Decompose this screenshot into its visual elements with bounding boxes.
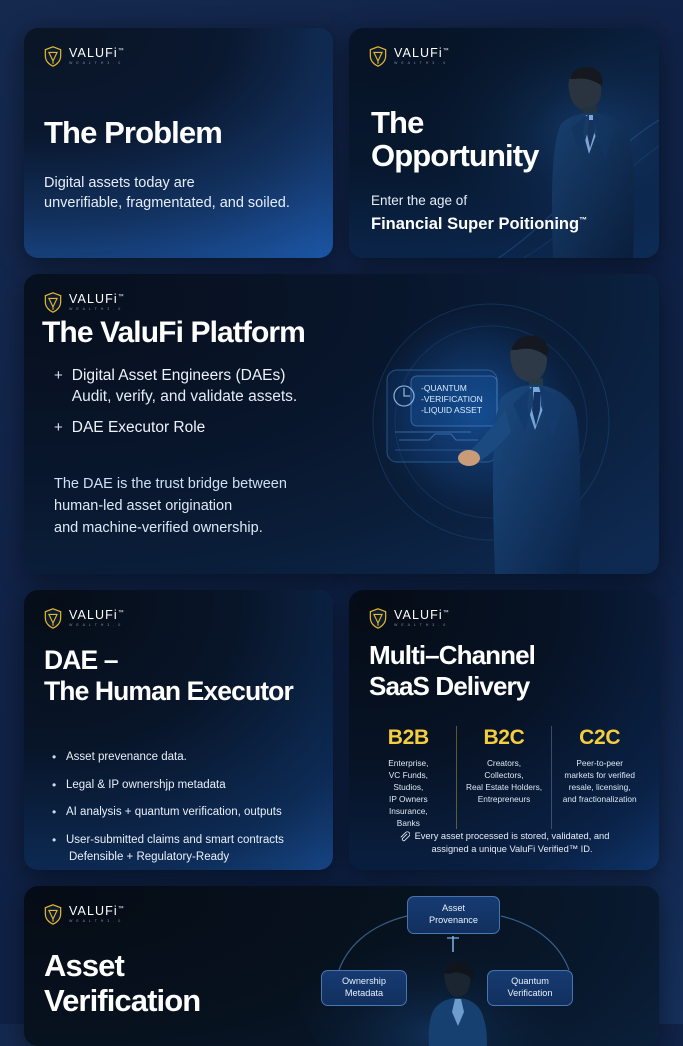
brand-logotype: VALUFi™ W E A L T H 3 . 0 <box>69 293 124 311</box>
verification-title: Asset Verification <box>44 948 200 1018</box>
brand-logotype: VALUFi™ W E A L T H 3 . 0 <box>394 47 449 65</box>
saas-column-b2c: B2C Creators, Collectors, Real Estate Ho… <box>456 726 552 829</box>
platform-quote-line2: human-led asset origination <box>54 498 232 514</box>
dae-bullet-subtext: Defensible + Regulatory-Ready <box>66 850 324 866</box>
brand-logo: VALUFi™ W E A L T H 3 . 0 <box>44 292 124 313</box>
saas-channel-columns: B2B Enterprise, VC Funds, Studios, IP Ow… <box>361 726 647 829</box>
dae-title-line1: DAE – <box>44 645 118 675</box>
brand-name: VALUFi <box>394 608 443 622</box>
platform-title: The ValuFi Platform <box>42 317 305 349</box>
shield-v-icon <box>44 608 62 629</box>
dae-title: DAE – The Human Executor <box>44 645 293 708</box>
problem-subtitle: Digital assets today are unverifiable, f… <box>44 174 324 213</box>
verification-title-line1: Asset <box>44 948 124 983</box>
diagram-node-quantum-verification[interactable]: Quantum Verification <box>487 970 573 1006</box>
platform-bullet-text: DAE Executor Role <box>72 418 206 439</box>
opportunity-sub-lead: Enter the age of <box>371 193 467 208</box>
platform-illustration: -QUANTUM -VERIFICATION -LIQUID ASSET <box>359 274 659 574</box>
opportunity-sub-tm: ™ <box>579 216 587 225</box>
brand-tm: ™ <box>443 610 449 616</box>
platform-bullet: + DAE Executor Role <box>54 418 394 439</box>
brand-name: VALUFi <box>394 46 443 60</box>
brand-tagline: W E A L T H 3 . 0 <box>69 920 124 924</box>
card-asset-verification[interactable]: VALUFi™ W E A L T H 3 . 0 Asset Verifica… <box>24 886 659 1046</box>
brand-tagline: W E A L T H 3 . 0 <box>69 624 124 628</box>
verification-diagram: Asset Provenance Ownership Metadata Quan… <box>299 886 639 1046</box>
brand-name: VALUFi <box>69 46 118 60</box>
brand-tagline: W E A L T H 3 . 0 <box>394 624 449 628</box>
card-multi-channel-saas[interactable]: VALUFi™ W E A L T H 3 . 0 Multi–Channel … <box>349 590 659 870</box>
problem-title: The Problem <box>44 116 222 149</box>
brand-logo: VALUFi™ W E A L T H 3 . 0 <box>369 608 449 629</box>
dae-bullet-text: User-submitted claims and smart contract… <box>66 834 284 846</box>
card-the-valufi-platform[interactable]: -QUANTUM -VERIFICATION -LIQUID ASSET <box>24 274 659 574</box>
opportunity-title: The Opportunity <box>371 106 538 172</box>
saas-title-line2: SaaS Delivery <box>369 671 529 701</box>
slide-deck: VALUFi™ W E A L T H 3 . 0 The Problem Di… <box>0 0 683 1024</box>
shield-v-icon <box>44 46 62 67</box>
brand-logo: VALUFi™ W E A L T H 3 . 0 <box>369 46 449 67</box>
opportunity-sub-strong: Financial Super Poitioning™ <box>371 213 587 235</box>
node-label: Asset Provenance <box>429 903 478 927</box>
problem-sub-line1: Digital assets today are <box>44 175 195 191</box>
list-item: User-submitted claims and smart contract… <box>52 833 324 866</box>
node-label: Quantum Verification <box>508 976 553 1000</box>
platform-bullet-subtext: Audit, verify, and validate assets. <box>72 387 297 408</box>
saas-footer-note: Every asset processed is stored, validat… <box>365 830 643 856</box>
diagram-node-ownership-metadata[interactable]: Ownership Metadata <box>321 970 407 1006</box>
opportunity-title-line2: Opportunity <box>371 138 538 173</box>
opportunity-subtitle: Enter the age of Financial Super Poition… <box>371 192 587 235</box>
dae-bullet-list: Asset prevenance data. Legal & IP owners… <box>52 750 324 870</box>
platform-quote: The DAE is the trust bridge between huma… <box>54 474 287 539</box>
card-dae-human-executor[interactable]: VALUFi™ W E A L T H 3 . 0 DAE – The Huma… <box>24 590 333 870</box>
hologram-line-3: -LIQUID ASSET <box>421 405 482 415</box>
paperclip-icon <box>399 831 410 842</box>
shield-v-icon <box>369 608 387 629</box>
list-item: AI analysis + quantum verification, outp… <box>52 805 324 821</box>
list-item: Legal & IP ownershjp metadata <box>52 778 324 794</box>
hologram-line-2: -VERIFICATION <box>421 394 483 404</box>
saas-note-line2: assigned a unique ValuFi Verified™ ID. <box>431 844 592 854</box>
card-the-problem[interactable]: VALUFi™ W E A L T H 3 . 0 The Problem Di… <box>24 28 333 258</box>
hologram-line-1: -QUANTUM <box>421 383 467 393</box>
saas-note-text: Every asset processed is stored, validat… <box>415 830 610 856</box>
brand-logo: VALUFi™ W E A L T H 3 . 0 <box>44 904 124 925</box>
dae-bullet-text: Asset prevenance data. <box>66 751 187 763</box>
problem-sub-line2: unverifiable, fragmentated, and soiled. <box>44 195 290 211</box>
brand-tm: ™ <box>443 48 449 54</box>
card-row-1: VALUFi™ W E A L T H 3 . 0 The Problem Di… <box>24 28 659 258</box>
diagram-node-asset-provenance[interactable]: Asset Provenance <box>407 896 500 934</box>
platform-quote-line3: and machine-verified ownership. <box>54 520 263 536</box>
saas-column-key: B2C <box>462 726 547 750</box>
brand-name: VALUFi <box>69 608 118 622</box>
saas-column-desc: Creators, Collectors, Real Estate Holder… <box>462 757 547 805</box>
opportunity-title-line1: The <box>371 105 423 140</box>
brand-logotype: VALUFi™ W E A L T H 3 . 0 <box>69 905 124 923</box>
brand-logotype: VALUFi™ W E A L T H 3 . 0 <box>394 609 449 627</box>
card-the-opportunity[interactable]: VALUFi™ W E A L T H 3 . 0 The Opportunit… <box>349 28 659 258</box>
saas-column-c2c: C2C Peer-to-peer markets for verified re… <box>551 726 647 829</box>
brand-logotype: VALUFi™ W E A L T H 3 . 0 <box>69 609 124 627</box>
node-label: Ownership Metadata <box>342 976 386 1000</box>
verification-title-line2: Verification <box>44 983 200 1018</box>
saas-column-desc: Enterprise, VC Funds, Studios, IP Owners… <box>366 757 451 829</box>
platform-bullet: + Digital Asset Engineers (DAEs) Audit, … <box>54 366 394 407</box>
brand-tm: ™ <box>118 48 124 54</box>
brand-tagline: W E A L T H 3 . 0 <box>69 62 124 66</box>
brand-logo: VALUFi™ W E A L T H 3 . 0 <box>44 46 124 67</box>
platform-bullet-list: + Digital Asset Engineers (DAEs) Audit, … <box>54 366 394 450</box>
brand-tm: ™ <box>118 294 124 300</box>
brand-tagline: W E A L T H 3 . 0 <box>394 62 449 66</box>
saas-column-desc: Peer-to-peer markets for verified resale… <box>557 757 642 805</box>
saas-note-line1: Every asset processed is stored, validat… <box>415 831 610 841</box>
platform-bullet-text: Digital Asset Engineers (DAEs) Audit, ve… <box>72 366 297 407</box>
card-row-2: VALUFi™ W E A L T H 3 . 0 DAE – The Huma… <box>24 590 659 870</box>
brand-logotype: VALUFi™ W E A L T H 3 . 0 <box>69 47 124 65</box>
brand-tagline: W E A L T H 3 . 0 <box>69 308 124 312</box>
person-silhouette <box>425 958 489 1046</box>
list-item: Asset prevenance data. <box>52 750 324 766</box>
saas-title: Multi–Channel SaaS Delivery <box>369 640 535 702</box>
dae-title-line2: The Human Executor <box>44 676 293 706</box>
brand-name: VALUFi <box>69 292 118 306</box>
shield-v-icon <box>44 292 62 313</box>
platform-quote-line1: The DAE is the trust bridge between <box>54 476 287 492</box>
brand-name: VALUFi <box>69 904 118 918</box>
saas-column-b2b: B2B Enterprise, VC Funds, Studios, IP Ow… <box>361 726 456 829</box>
brand-tm: ™ <box>118 610 124 616</box>
saas-column-key: C2C <box>557 726 642 750</box>
shield-v-icon <box>44 904 62 925</box>
plus-icon: + <box>54 366 63 407</box>
plus-icon: + <box>54 418 63 439</box>
dae-bullet-text: Legal & IP ownershjp metadata <box>66 779 226 791</box>
brand-tm: ™ <box>118 906 124 912</box>
shield-v-icon <box>369 46 387 67</box>
brand-logo: VALUFi™ W E A L T H 3 . 0 <box>44 608 124 629</box>
saas-column-key: B2B <box>366 726 451 750</box>
saas-title-line1: Multi–Channel <box>369 640 535 670</box>
dae-bullet-text: AI analysis + quantum verification, outp… <box>66 806 282 818</box>
